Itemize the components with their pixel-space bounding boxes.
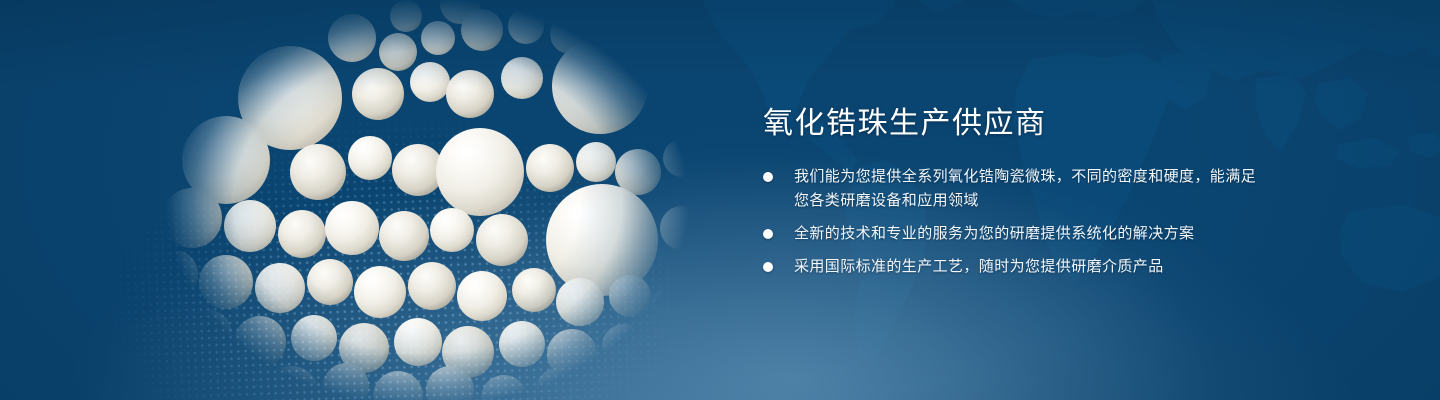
hero-banner: 氧化锆珠生产供应商 我们能为您提供全系列氧化锆陶瓷微珠，不同的密度和硬度，能满足… — [0, 0, 1440, 400]
list-item-label: 采用国际标准的生产工艺，随时为您提供研磨介质产品 — [794, 258, 1164, 275]
list-item-label: 全新的技术和专业的服务为您的研磨提供系统化的解决方案 — [794, 225, 1194, 242]
list-item: 采用国际标准的生产工艺，随时为您提供研磨介质产品 — [763, 255, 1263, 279]
list-item: 我们能为您提供全系列氧化锆陶瓷微珠，不同的密度和硬度，能满足您各类研磨设备和应用… — [763, 165, 1263, 213]
feature-list: 我们能为您提供全系列氧化锆陶瓷微珠，不同的密度和硬度，能满足您各类研磨设备和应用… — [763, 165, 1263, 279]
page-title: 氧化锆珠生产供应商 — [763, 104, 1263, 144]
banner-content: 氧化锆珠生产供应商 我们能为您提供全系列氧化锆陶瓷微珠，不同的密度和硬度，能满足… — [763, 104, 1263, 279]
list-item: 全新的技术和专业的服务为您的研磨提供系统化的解决方案 — [763, 222, 1263, 246]
bullet-dot-icon — [763, 262, 773, 272]
list-item-label: 我们能为您提供全系列氧化锆陶瓷微珠，不同的密度和硬度，能满足您各类研磨设备和应用… — [794, 168, 1256, 209]
bullet-dot-icon — [763, 172, 773, 182]
bullet-dot-icon — [763, 229, 773, 239]
